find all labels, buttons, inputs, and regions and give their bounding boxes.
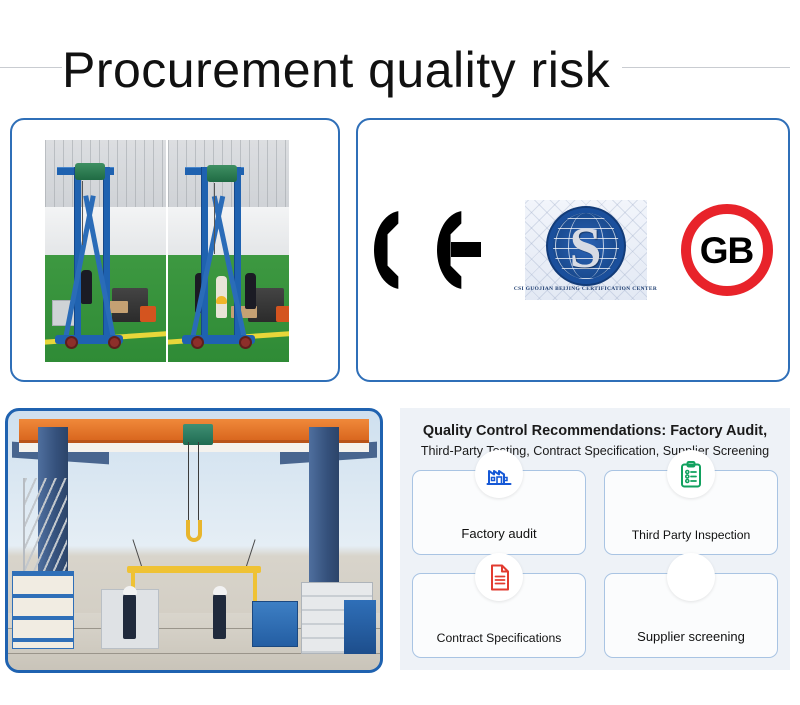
crane-wheel	[239, 336, 252, 349]
parts-shelving	[12, 571, 74, 649]
worker-left	[123, 593, 136, 639]
recommendations-panel: Quality Control Recommendations: Factory…	[400, 408, 790, 670]
hoist-cable	[82, 181, 83, 245]
certification-marks-row: S CSI GUOJIAN BEIJING CERTIFICATION CENT…	[358, 120, 788, 380]
clipboard-checklist-icon	[667, 450, 715, 498]
header: Procurement quality risk	[0, 22, 800, 98]
gb-mark-icon: GB	[681, 204, 773, 296]
ce-letter-c-icon	[374, 211, 428, 289]
hard-hat-right	[213, 586, 227, 595]
crane-pair-photo-card	[10, 118, 340, 382]
slide-root: Procurement quality risk	[0, 0, 800, 705]
electric-hoist	[207, 165, 237, 182]
document-icon	[475, 553, 523, 601]
tool-cabinet	[344, 600, 376, 654]
crane-wheel	[108, 336, 121, 349]
electric-hoist	[75, 163, 105, 180]
page-title: Procurement quality risk	[62, 42, 622, 98]
equipment-cart	[252, 601, 298, 647]
hoist-cable	[214, 183, 215, 254]
factory-icon	[475, 450, 523, 498]
ce-mark-icon	[374, 211, 491, 289]
recommendations-subtitle: Third-Party Testing, Contract Specificat…	[406, 444, 784, 460]
certification-center-globe-icon: S CSI GUOJIAN BEIJING CERTIFICATION CENT…	[525, 200, 647, 300]
recommendation-card-contract-specifications[interactable]: Contract Specifications	[412, 573, 586, 658]
recommendation-card-label: Factory audit	[457, 527, 540, 542]
recommendation-card-third-party-inspection[interactable]: Third Party Inspection	[604, 470, 778, 555]
sling-right	[245, 539, 256, 569]
recommendation-card-label: Third Party Inspection	[628, 528, 755, 542]
ce-letter-e-icon	[437, 211, 491, 289]
recommendations-title: Quality Control Recommendations: Factory…	[410, 422, 780, 440]
crane-wheel	[191, 336, 204, 349]
recommendation-cards-grid: Factory audit Third Party Inspection	[412, 470, 778, 658]
gantry-crane	[180, 167, 260, 345]
spreader-beam	[127, 566, 261, 573]
crane-photo-left	[45, 140, 166, 362]
hard-hat-left	[123, 586, 137, 595]
gantry-crane	[52, 167, 129, 345]
certifications-card: S CSI GUOJIAN BEIJING CERTIFICATION CENT…	[356, 118, 790, 382]
hoist-ropes	[186, 442, 202, 520]
worker-right	[213, 593, 226, 639]
globe-letter-s: S	[569, 219, 601, 277]
crane-brace	[212, 195, 247, 338]
recommendation-card-factory-audit[interactable]: Factory audit	[412, 470, 586, 555]
crane-brace	[83, 195, 116, 339]
recommendation-card-supplier-screening[interactable]: Supplier screening	[604, 573, 778, 658]
workshop-photo-card	[5, 408, 383, 673]
lifting-hook-icon	[186, 520, 202, 542]
blank-icon	[667, 553, 715, 601]
globe-arc-text: CSI GUOJIAN BEIJING CERTIFICATION CENTER	[514, 286, 657, 292]
sling-left	[132, 539, 143, 569]
crane-wheel	[65, 336, 78, 349]
crane-pair-photo	[45, 140, 289, 362]
crane-photo-right	[168, 140, 289, 362]
recommendation-card-label: Contract Specifications	[433, 631, 566, 645]
recommendation-card-label: Supplier screening	[633, 630, 749, 645]
gb-label: GB	[700, 232, 754, 269]
